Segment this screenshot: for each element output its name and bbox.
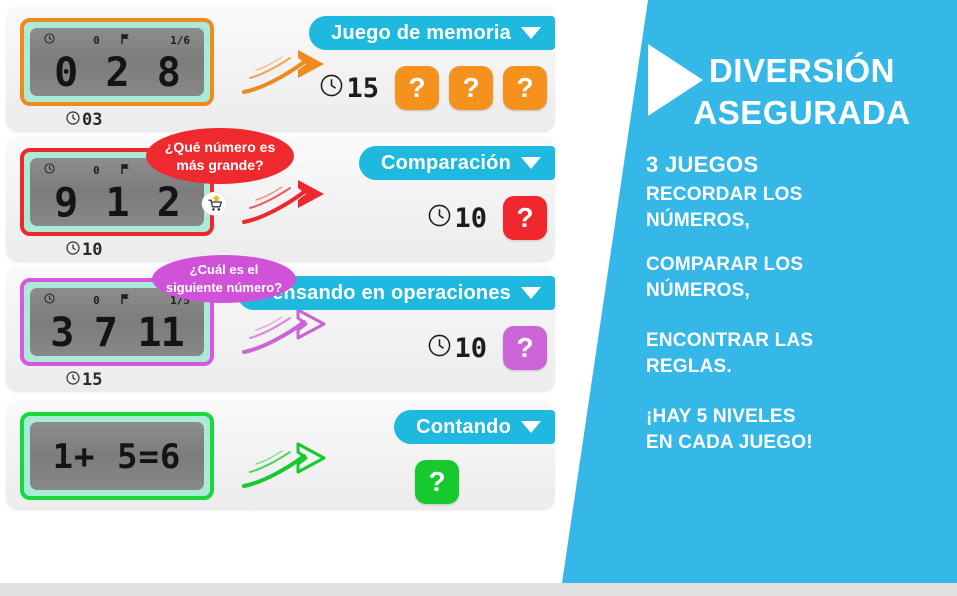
headline-line-2: ASEGURADA	[644, 92, 957, 134]
lcd-digit: 9	[54, 181, 77, 225]
answer-row-operaciones: 10 ?	[428, 322, 547, 374]
answer-row-memoria: 15 ? ? ?	[320, 62, 547, 114]
curved-arrow-icon	[240, 442, 332, 494]
device-timer-value: 03	[82, 110, 102, 130]
lcd-digits: 3 7 11	[40, 310, 194, 356]
curved-arrow-icon	[240, 178, 332, 230]
lcd-device-contando: 1+ 5=6	[20, 412, 214, 500]
promo-screen: 0 1/6 0 2 8 03	[0, 0, 957, 596]
lcd-device-memoria: 0 1/6 0 2 8	[20, 18, 214, 106]
answer-timer: 15	[320, 73, 379, 104]
answer-row-comparacion: 10 ?	[428, 192, 547, 244]
game-title-pill-contando[interactable]: Contando	[394, 410, 555, 444]
lcd-status-bar: 0 1/6	[40, 32, 194, 48]
game-card-list: 0 1/6 0 2 8 03	[0, 0, 560, 583]
device-timer: 15	[66, 370, 102, 390]
lcd-digit: 1	[105, 181, 128, 225]
bubble-line-1: ¿Cuál es el	[166, 261, 282, 279]
device-timer-value: 15	[82, 370, 102, 390]
lcd-progress: 1/6	[170, 34, 190, 47]
game-card-contando[interactable]: 1+ 5=6 Contando ?	[6, 400, 555, 510]
answer-row-contando: ?	[415, 456, 459, 508]
answer-timer: 10	[428, 203, 487, 234]
promo-copy: DIVERSIÓN ASEGURADA 3 JUEGOS RECORDAR LO…	[640, 0, 957, 583]
game-title: Comparación	[381, 152, 511, 175]
curved-arrow-icon	[240, 48, 332, 100]
lcd-screen: 0 1/6 0 2 8	[30, 28, 204, 96]
promo-feature-3: ENCONTRAR LAS REGLAS.	[646, 328, 946, 380]
lcd-level: 0	[93, 294, 100, 307]
speech-bubble-operaciones: ¿Cuál es el siguiente número?	[152, 255, 296, 303]
game-title: Contando	[416, 416, 511, 439]
clock-icon	[44, 33, 55, 47]
lcd-screen: 1+ 5=6	[30, 422, 204, 490]
flag-icon	[120, 163, 132, 178]
clock-icon	[66, 370, 80, 390]
feature-line-2: REGLAS.	[646, 354, 946, 380]
game-card-memoria[interactable]: 0 1/6 0 2 8 03	[6, 6, 555, 132]
feature-line-1: RECORDAR LOS	[646, 182, 946, 208]
promo-headline: DIVERSIÓN ASEGURADA	[644, 50, 957, 134]
bubble-line-2: siguiente número?	[166, 279, 282, 297]
feature-line-1: COMPARAR LOS	[646, 252, 946, 278]
lcd-digit: 11	[138, 311, 184, 355]
clock-icon	[66, 240, 80, 260]
game-title-pill-comparacion[interactable]: Comparación	[359, 146, 555, 180]
answer-timer-value: 15	[346, 73, 379, 104]
headline-line-1: DIVERSIÓN	[644, 50, 957, 92]
clock-icon	[320, 73, 343, 104]
clock-icon	[428, 333, 451, 364]
feature-line-1: ENCONTRAR LAS	[646, 328, 946, 354]
shopping-cart-icon[interactable]	[200, 191, 230, 221]
promo-feature-1: RECORDAR LOS NÚMEROS,	[646, 182, 946, 234]
lcd-digit: 7	[94, 311, 117, 355]
bubble-line-2: más grande?	[165, 156, 275, 174]
lcd-level: 0	[93, 164, 100, 177]
feature-line-2: NÚMEROS,	[646, 278, 946, 304]
answer-slot[interactable]: ?	[395, 66, 439, 110]
levels-line-2: EN CADA JUEGO!	[646, 430, 946, 456]
promo-subheading: 3 JUEGOS	[646, 152, 758, 178]
chevron-down-icon[interactable]	[521, 421, 541, 433]
device-timer: 10	[66, 240, 102, 260]
lcd-digit: 2	[105, 51, 128, 95]
flag-icon	[120, 293, 132, 308]
answer-slot[interactable]: ?	[415, 460, 459, 504]
clock-icon	[66, 110, 80, 130]
lcd-digit: 8	[157, 51, 180, 95]
lcd-level: 0	[93, 34, 100, 47]
clock-icon	[428, 203, 451, 234]
lcd-digit: 0	[54, 51, 77, 95]
chevron-down-icon[interactable]	[521, 157, 541, 169]
game-title: Juego de memoria	[331, 22, 511, 45]
promo-levels-note: ¡HAY 5 NIVELES EN CADA JUEGO!	[646, 404, 946, 456]
curved-arrow-icon	[240, 308, 332, 360]
clock-icon	[44, 293, 55, 307]
game-title-pill-memoria[interactable]: Juego de memoria	[309, 16, 555, 50]
lcd-digit: 2	[157, 181, 180, 225]
feature-line-2: NÚMEROS,	[646, 208, 946, 234]
answer-timer: 10	[428, 333, 487, 364]
flag-icon	[120, 33, 132, 48]
lcd-expression: 1+ 5=6	[40, 426, 194, 488]
clock-icon	[44, 163, 55, 177]
lcd-screen: 0 1/5 3 7 11	[30, 288, 204, 356]
lcd-digits: 9 1 2	[40, 180, 194, 226]
game-title: Pensando en operaciones	[259, 282, 511, 305]
device-timer-value: 10	[82, 240, 102, 260]
answer-timer-value: 10	[454, 203, 487, 234]
levels-line-1: ¡HAY 5 NIVELES	[646, 404, 946, 430]
chevron-down-icon[interactable]	[521, 287, 541, 299]
bottom-bar	[0, 583, 957, 596]
speech-bubble-comparacion: ¿Qué número es más grande?	[146, 128, 294, 184]
bubble-line-1: ¿Qué número es	[165, 138, 275, 156]
promo-panel: DIVERSIÓN ASEGURADA 3 JUEGOS RECORDAR LO…	[540, 0, 957, 583]
promo-feature-2: COMPARAR LOS NÚMEROS,	[646, 252, 946, 304]
lcd-digit: 3	[50, 311, 73, 355]
chevron-down-icon[interactable]	[521, 27, 541, 39]
lcd-digits: 0 2 8	[40, 50, 194, 96]
device-timer: 03	[66, 110, 102, 130]
answer-slot[interactable]: ?	[449, 66, 493, 110]
answer-timer-value: 10	[454, 333, 487, 364]
